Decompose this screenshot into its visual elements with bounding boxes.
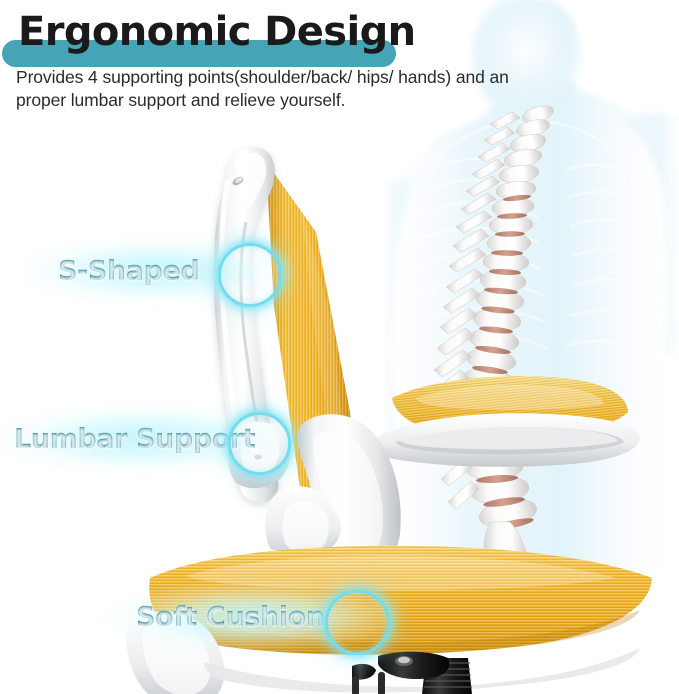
callout-label: Lumbar Support [14,424,255,455]
ring-marker-icon [218,243,282,307]
page-title: Ergonomic Design [18,9,416,55]
header: Ergonomic Design Provides 4 supporting p… [0,0,679,130]
ring-marker-icon [325,590,390,655]
callout-label: S-Shaped [58,256,199,287]
page-subtitle: Provides 4 supporting points(shoulder/ba… [16,66,516,113]
rib-cage-lines [416,122,650,356]
callout-label: Soft Cushion [136,602,325,633]
ring-marker-icon [228,412,291,475]
infographic-canvas: Ergonomic Design Provides 4 supporting p… [0,0,679,694]
spine-column [433,103,555,584]
chair-base-cylinder [346,652,472,694]
